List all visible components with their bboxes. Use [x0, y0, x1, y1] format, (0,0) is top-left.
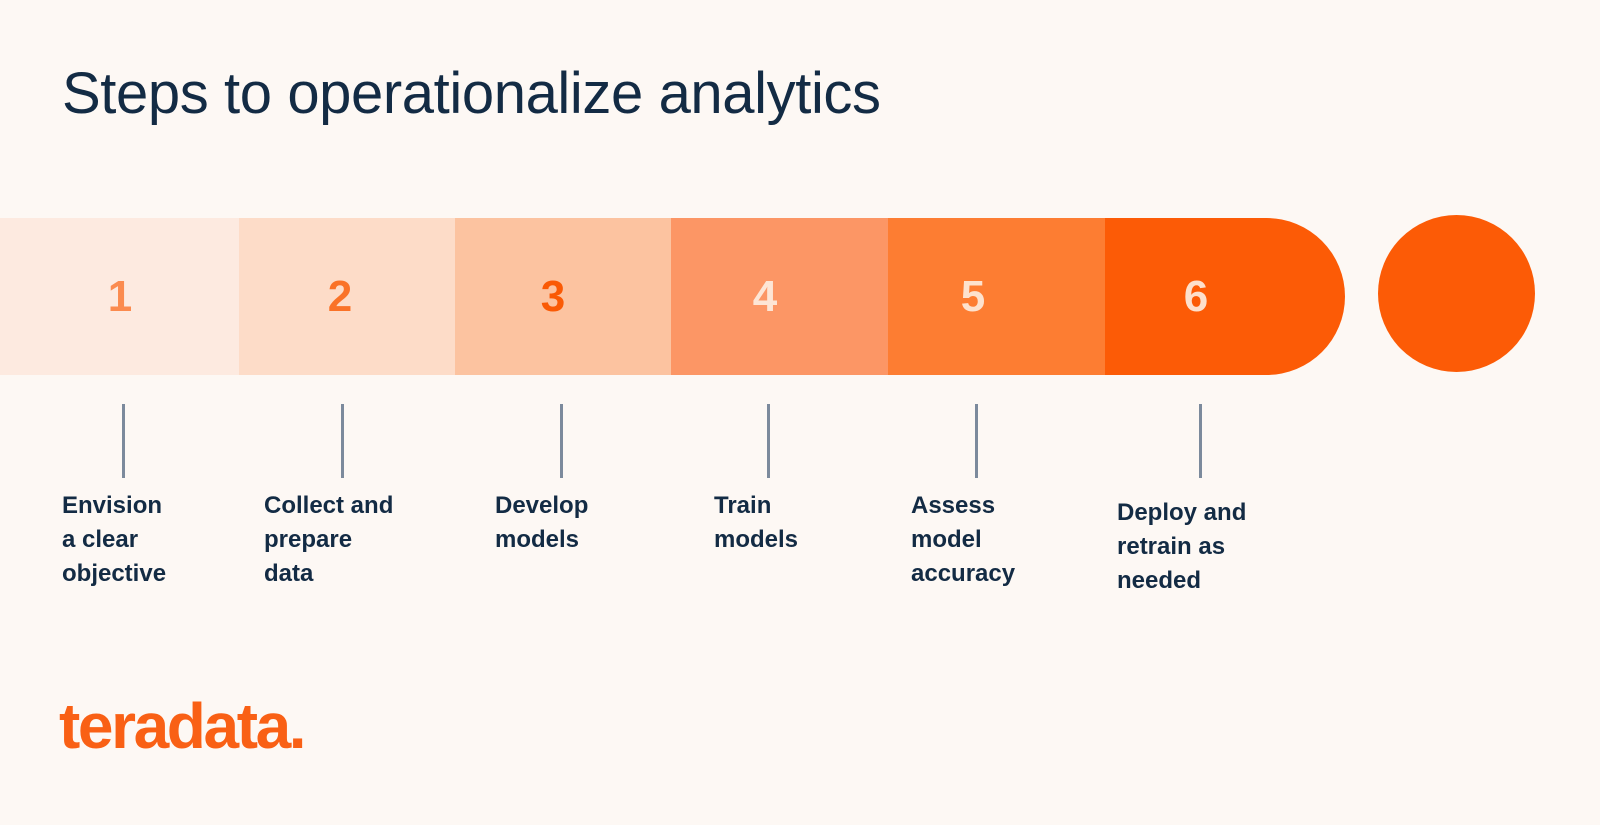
step-label-2: Collect and prepare data [264, 489, 454, 591]
steps-bar-clip: 1 2 3 4 5 6 [0, 218, 1345, 375]
step-segment-4[interactable]: 4 [671, 218, 888, 375]
step-label-3: Develop models [495, 489, 685, 557]
step-number-2: 2 [310, 275, 370, 319]
connector-line-6 [1199, 404, 1202, 478]
connector-line-1 [122, 404, 125, 478]
page-title: Steps to operationalize analytics [62, 62, 881, 126]
step-number-6: 6 [1166, 275, 1226, 319]
end-circle-marker [1378, 215, 1535, 372]
steps-progress-bar: 1 2 3 4 5 6 [0, 218, 1345, 375]
step-number-3: 3 [523, 275, 583, 319]
step-label-5: Assess model accuracy [911, 489, 1101, 591]
teradata-logo: teradata. [59, 694, 304, 758]
step-segment-5[interactable]: 5 [888, 218, 1105, 375]
step-segment-1[interactable]: 1 [0, 218, 239, 375]
infographic-canvas: Steps to operationalize analytics 1 2 3 … [0, 0, 1600, 825]
step-number-1: 1 [90, 275, 150, 319]
connector-line-4 [767, 404, 770, 478]
step-label-4: Train models [714, 489, 904, 557]
step-label-6: Deploy and retrain as needed [1117, 496, 1307, 598]
connector-line-5 [975, 404, 978, 478]
step-number-4: 4 [735, 275, 795, 319]
step-label-1: Envision a clear objective [62, 489, 252, 591]
connector-line-2 [341, 404, 344, 478]
step-number-5: 5 [943, 275, 1003, 319]
step-segment-6[interactable]: 6 [1105, 218, 1345, 375]
connector-line-3 [560, 404, 563, 478]
step-segment-2[interactable]: 2 [239, 218, 455, 375]
step-segment-3[interactable]: 3 [455, 218, 671, 375]
